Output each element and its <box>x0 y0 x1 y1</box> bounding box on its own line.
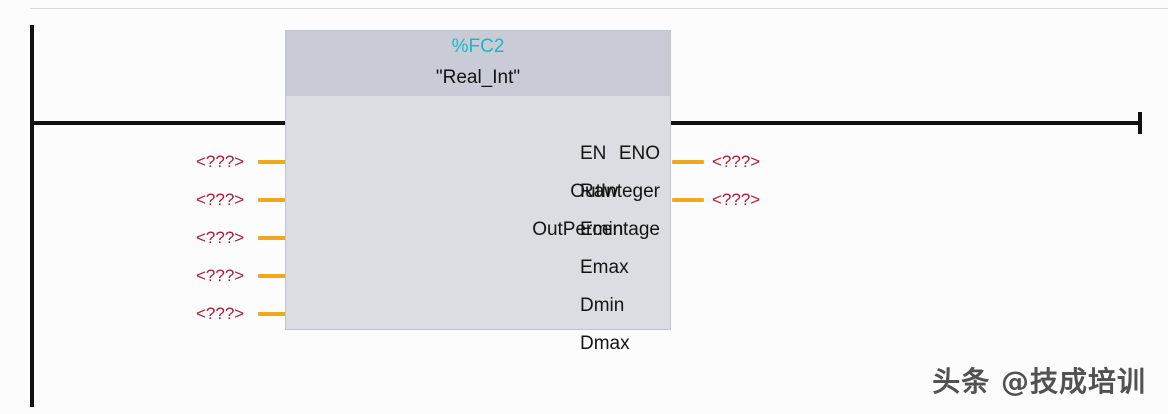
operand-emin[interactable]: <???> <box>196 191 244 209</box>
fc-call-block[interactable]: %FC2 "Real_Int" EN Raw Emin Emax Dmin Dm… <box>285 30 671 330</box>
block-name-label: "Real_Int" <box>286 67 670 89</box>
en-rung-wire[interactable] <box>30 121 286 125</box>
eno-rung-wire[interactable] <box>670 121 1142 125</box>
wire-stub-dmax[interactable] <box>258 312 286 316</box>
rung-terminator-tick <box>1138 112 1142 134</box>
operand-emax[interactable]: <???> <box>196 229 244 247</box>
network-separator-line <box>30 8 1168 9</box>
operand-dmax[interactable]: <???> <box>196 305 244 323</box>
watermark-text: 头条 @技成培训 <box>932 360 1146 400</box>
wire-stub-emax[interactable] <box>258 236 286 240</box>
ladder-editor-canvas: <???> <???> <???> <???> <???> <???> <???… <box>0 0 1168 414</box>
pin-label-dmax[interactable]: Dmax <box>580 334 630 354</box>
wire-stub-outinteger[interactable] <box>672 160 704 164</box>
pin-label-outinteger[interactable]: OutInteger <box>570 182 670 202</box>
wire-stub-raw[interactable] <box>258 160 286 164</box>
operand-dmin[interactable]: <???> <box>196 267 244 285</box>
operand-raw[interactable]: <???> <box>196 153 244 171</box>
operand-outpercentage[interactable]: <???> <box>712 191 760 209</box>
pin-label-outpercentage[interactable]: OutPercentage <box>532 220 670 240</box>
wire-stub-emin[interactable] <box>258 198 286 202</box>
wire-stub-outpercentage[interactable] <box>672 198 704 202</box>
left-power-rail[interactable] <box>30 25 34 407</box>
block-address-label: %FC2 <box>286 36 670 58</box>
wire-stub-dmin[interactable] <box>258 274 286 278</box>
pin-label-eno[interactable]: ENO <box>619 144 670 164</box>
pin-label-emax[interactable]: Emax <box>580 258 629 278</box>
pin-label-en[interactable]: EN <box>580 144 606 164</box>
operand-outinteger[interactable]: <???> <box>712 153 760 171</box>
pin-label-dmin[interactable]: Dmin <box>580 296 624 316</box>
